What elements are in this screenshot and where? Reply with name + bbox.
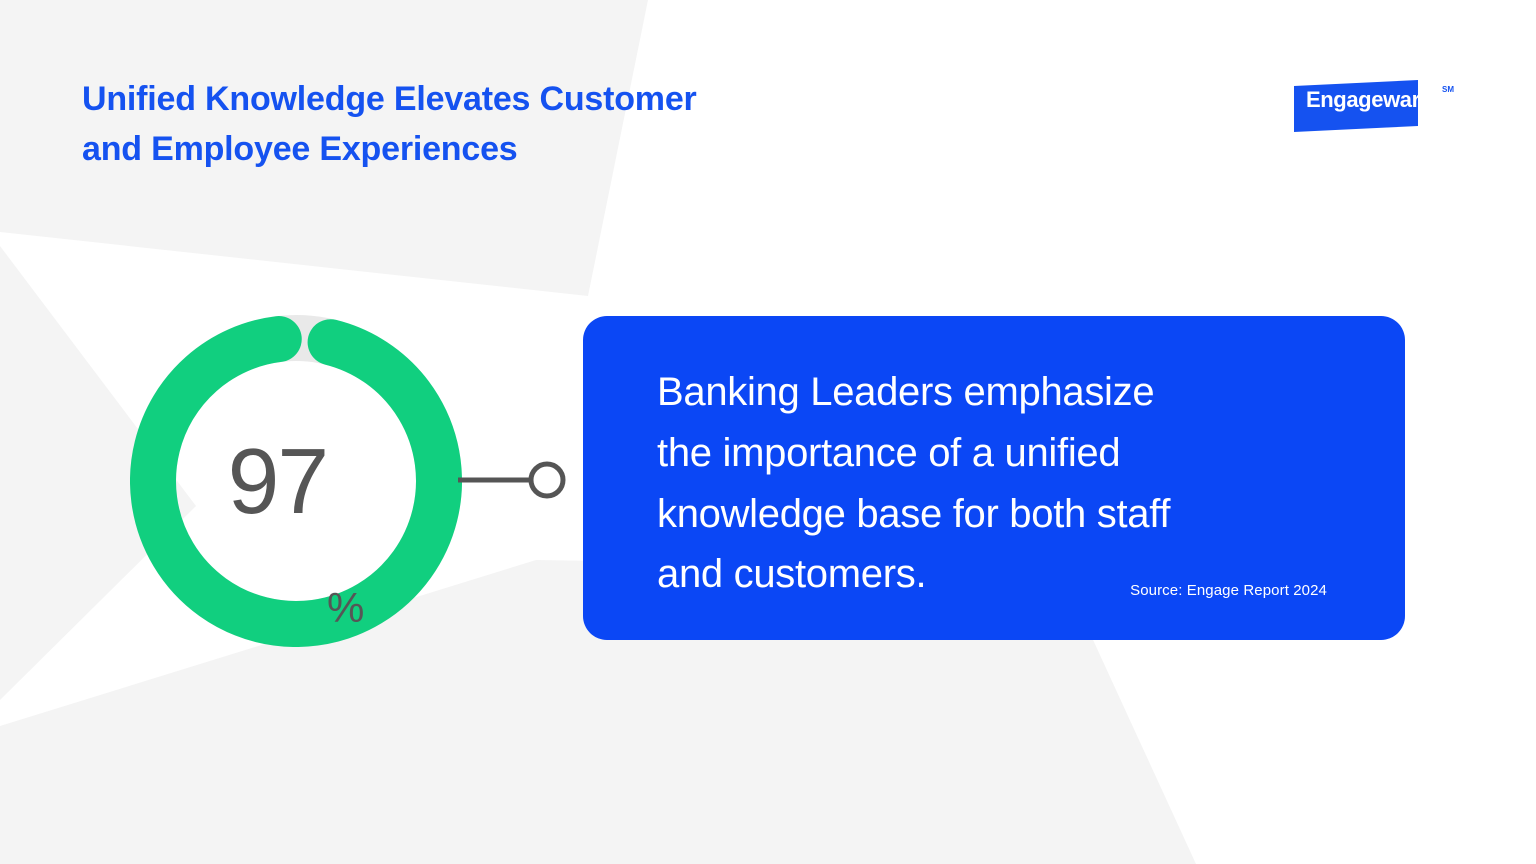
connector-node-icon	[531, 464, 563, 496]
callout-text: Banking Leaders emphasize the importance…	[657, 362, 1361, 605]
page-title: Unified Knowledge Elevates Customer and …	[82, 74, 842, 175]
infographic-slide: Unified Knowledge Elevates Customer and …	[0, 0, 1536, 864]
connector-line	[458, 456, 578, 504]
callout-line-3: knowledge base for both staff	[657, 484, 1361, 545]
logo-word-ware: ware	[1383, 87, 1432, 112]
donut-center-label: 97 %	[130, 315, 462, 647]
page-title-line-2: and Employee Experiences	[82, 124, 842, 174]
stat-value: 97	[228, 435, 327, 528]
engageware-logo[interactable]: Engageware SM	[1290, 80, 1462, 132]
donut-chart: 97 %	[130, 315, 462, 647]
stat-unit: %	[327, 587, 364, 647]
callout-line-1: Banking Leaders emphasize	[657, 362, 1361, 423]
page-title-line-1: Unified Knowledge Elevates Customer	[82, 74, 842, 124]
logo-word-engage: Engage	[1306, 87, 1383, 112]
logo-trademark: SM	[1442, 85, 1454, 94]
callout-line-2: the importance of a unified	[657, 423, 1361, 484]
logo-wordmark: Engageware	[1306, 89, 1432, 111]
callout-source: Source: Engage Report 2024	[1130, 582, 1327, 599]
callout-card: Banking Leaders emphasize the importance…	[583, 316, 1405, 640]
